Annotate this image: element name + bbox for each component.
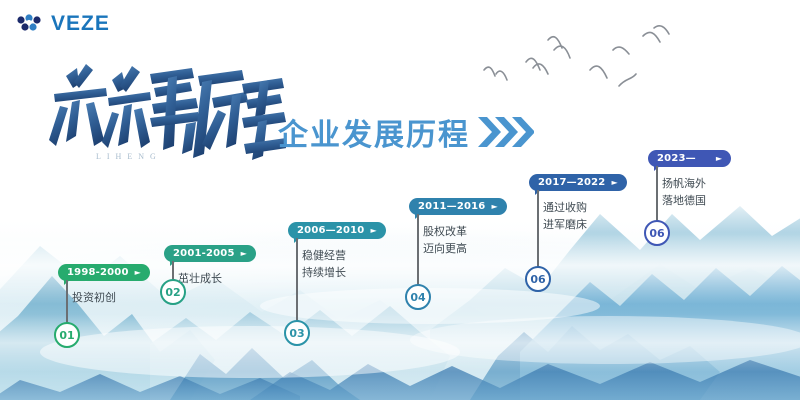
milestone-05[interactable]: 2017—2022 ► 通过收购 进军磨床 [529, 172, 627, 233]
milestone-text-line: 进军磨床 [529, 216, 627, 233]
milestone-period: 2023— [657, 153, 696, 164]
milestone-text-line: 稳健经营 [288, 247, 386, 264]
page-title: 企业发展历程 [278, 110, 534, 154]
calligraphy-title [46, 58, 286, 170]
milestone-marker-06[interactable]: 06 [644, 220, 670, 246]
milestone-text-line: 持续增长 [288, 264, 386, 281]
arrow-right-icon: ► [611, 179, 617, 187]
arrow-right-icon: ► [491, 203, 497, 211]
milestone-period-pill[interactable]: 1998-2000 ► [58, 264, 150, 281]
milestone-marker-03[interactable]: 03 [284, 320, 310, 346]
calligraphy-pinyin: LIHENG [96, 152, 162, 161]
milestone-marker-05[interactable]: 06 [525, 266, 551, 292]
milestone-04[interactable]: 2011—2016 ► 股权改革 迈向更高 [409, 196, 507, 257]
brand-name: VEZE [51, 12, 110, 36]
milestone-03[interactable]: 2006—2010 ► 稳健经营 持续增长 [288, 220, 386, 281]
milestone-stem-05 [537, 190, 539, 270]
subtitle-text: 企业发展历程 [278, 110, 470, 154]
milestone-stem-03 [296, 238, 298, 324]
milestone-text-line: 通过收购 [529, 199, 627, 216]
milestone-text-line: 投资初创 [58, 289, 150, 306]
triple-chevron-right-icon [476, 115, 534, 149]
arrow-right-icon: ► [370, 227, 376, 235]
milestone-period: 2011—2016 [418, 201, 485, 212]
brand-logo[interactable]: VEZE [16, 12, 110, 36]
dots-cluster-icon [16, 13, 44, 35]
banner-canvas: VEZE [0, 0, 800, 400]
milestone-period: 2001-2005 [173, 248, 235, 259]
arrow-right-icon: ► [241, 250, 247, 258]
milestone-text-line: 扬帆海外 [648, 175, 731, 192]
milestone-stem-06 [656, 166, 658, 224]
milestone-period: 1998-2000 [67, 267, 129, 278]
milestone-period-pill[interactable]: 2017—2022 ► [529, 174, 627, 191]
milestone-01[interactable]: 1998-2000 ► 投资初创 [58, 262, 150, 306]
milestone-period: 2006—2010 [297, 225, 364, 236]
milestone-stem-01 [66, 280, 68, 326]
milestone-period-pill[interactable]: 2023— ► [648, 150, 731, 167]
milestone-06[interactable]: 2023— ► 扬帆海外 落地德国 [648, 148, 731, 209]
milestone-period-pill[interactable]: 2006—2010 ► [288, 222, 386, 239]
milestone-period-pill[interactable]: 2001-2005 ► [164, 245, 256, 262]
milestone-text-line: 股权改革 [409, 223, 507, 240]
milestone-period-pill[interactable]: 2011—2016 ► [409, 198, 507, 215]
flying-birds-icon [478, 18, 688, 113]
arrow-right-icon: ► [716, 155, 722, 163]
milestone-marker-01[interactable]: 01 [54, 322, 80, 348]
milestone-stem-04 [417, 214, 419, 288]
milestone-text-line: 迈向更高 [409, 240, 507, 257]
milestone-text-line: 落地德国 [648, 192, 731, 209]
milestone-marker-02[interactable]: 02 [160, 279, 186, 305]
arrow-right-icon: ► [135, 269, 141, 277]
milestone-period: 2017—2022 [538, 177, 605, 188]
milestone-marker-04[interactable]: 04 [405, 284, 431, 310]
